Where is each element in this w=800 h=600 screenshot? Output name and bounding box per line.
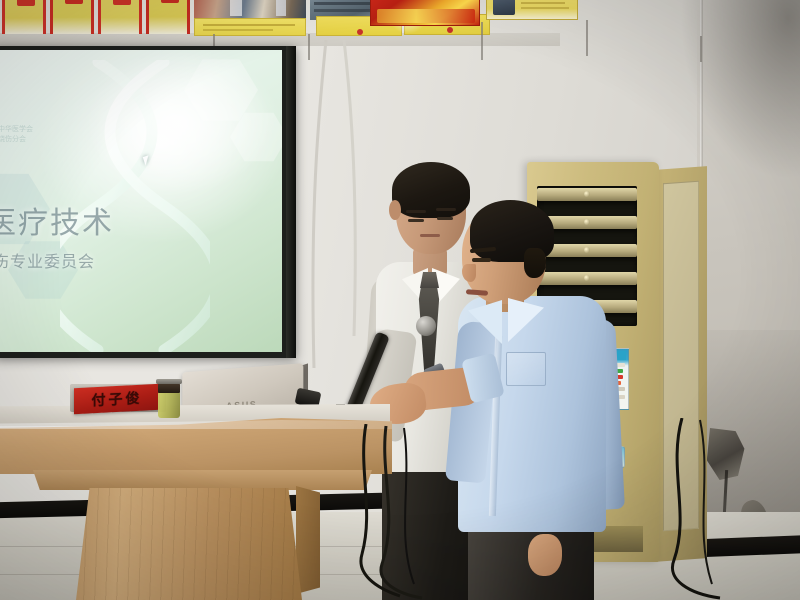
presenter-back-tie-knot [420,272,439,288]
poster-red-flame [370,0,480,26]
ceiling-cable-2 [336,40,376,340]
nameplate-text: 付子俊 [92,388,143,411]
poster-portrait-yellow [486,0,578,20]
wall-shadow [680,0,800,180]
poster-red-yellow-1 [2,0,46,34]
presenter-front-lower-hand [528,534,562,576]
presenter-back-eye [437,217,453,220]
ceiling-cable [300,40,340,370]
presenter-front-shirt-pocket [506,352,546,386]
right-floor-cable [660,418,770,600]
presenter-front-sideburn [524,248,546,278]
photo-scene: 中华医学会 烧伤分会 伤再生医疗技术 结合学会烧伤专业委员会 [0,0,800,600]
water-bottle-ring [156,379,182,384]
podium-column-side [296,486,320,594]
nameplate: 付子俊 [74,384,160,415]
poster-photo-people-banner [194,18,306,36]
projection-screen[interactable]: 中华医学会 烧伤分会 伤再生医疗技术 结合学会烧伤专业委员会 [0,50,282,352]
floor-cable-bundle [352,424,472,600]
presenter-back-eye [408,219,424,222]
presenter-front-nose [462,264,476,282]
presenter-back-mouth [420,234,440,237]
projection-corner-text: 中华医学会 烧伤分会 [0,124,33,144]
poster-hanger [586,20,588,56]
presenter-back-eyebrow [436,208,456,211]
podium-wood-grain [76,488,302,600]
presenter-back-eyebrow [406,210,426,213]
presenter-back-ear [389,200,401,220]
projection-screen-right-edge [286,46,296,358]
water-bottle[interactable] [158,392,180,418]
poster-hanger [481,22,483,60]
presenter-front-eye [472,258,491,262]
poster-hanger [700,36,702,62]
projection-subtitle: 结合学会烧伤专业委员会 [0,248,95,272]
presenter-back-hair [392,162,470,218]
microphone-head [416,316,436,336]
podium-lip [26,470,372,490]
projection-main-title: 伤再生医疗技术 [0,198,114,242]
